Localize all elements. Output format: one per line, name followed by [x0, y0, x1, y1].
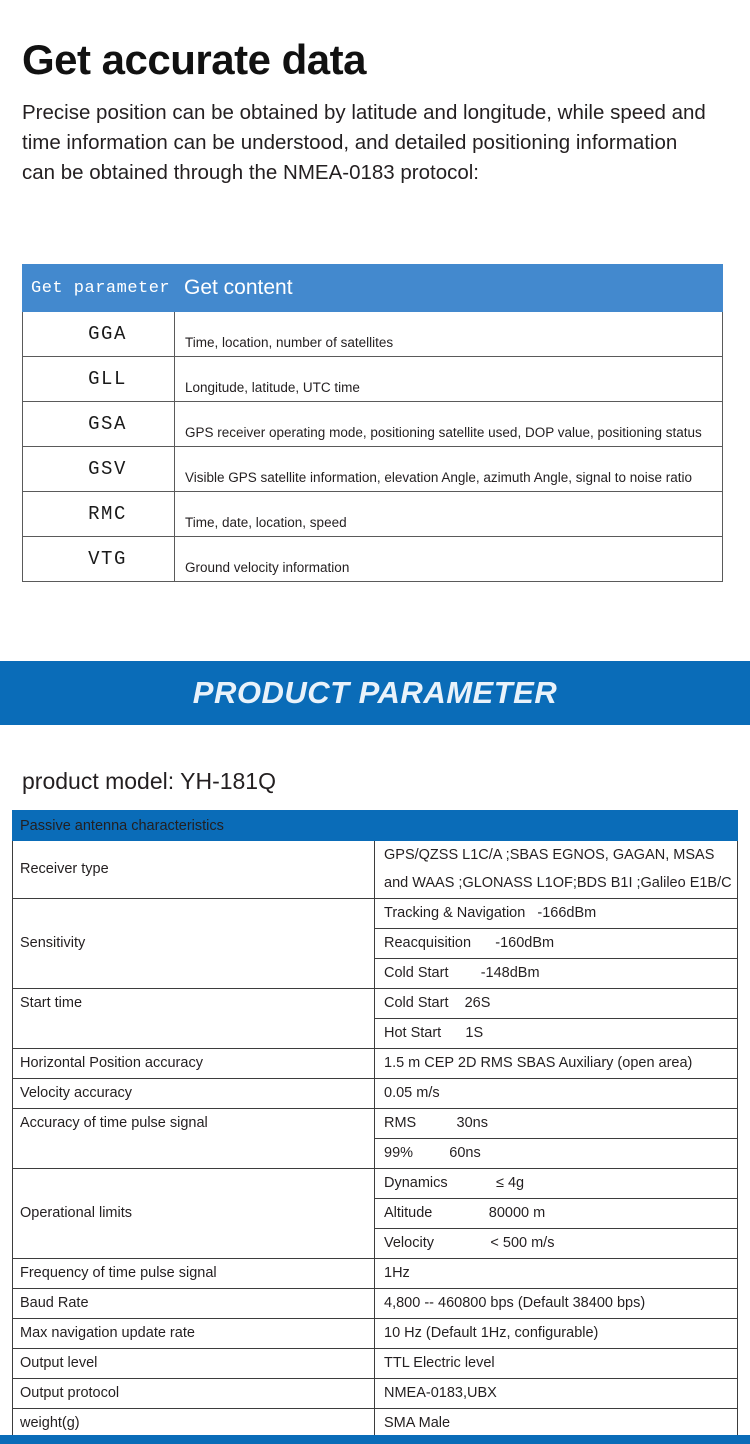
- table-row: GSV Visible GPS satellite information, e…: [23, 447, 723, 492]
- sensitivity-cold-start-name: Cold Start: [384, 965, 448, 981]
- operational-dynamics-value: ≤ 4g: [496, 1175, 524, 1191]
- operational-velocity-value: < 500 m/s: [490, 1235, 554, 1251]
- spec-value-output-protocol: NMEA-0183,UBX: [375, 1378, 738, 1408]
- nmea-sentence-table: Get parameter Get content GGA Time, loca…: [22, 264, 723, 582]
- operational-altitude-name: Altitude: [384, 1205, 432, 1221]
- time-pulse-99-value: 60ns: [449, 1145, 480, 1161]
- table-row: Max navigation update rate 10 Hz (Defaul…: [13, 1318, 738, 1348]
- spec-value-operational-dynamics: Dynamics ≤ 4g: [375, 1168, 738, 1198]
- nmea-content-gll: Longitude, latitude, UTC time: [175, 357, 723, 402]
- spec-table-body: Passive antenna characteristics Receiver…: [13, 811, 738, 1439]
- spec-label-time-pulse-accuracy: Accuracy of time pulse signal: [13, 1108, 375, 1168]
- sensitivity-reacquisition-value: -160dBm: [495, 935, 554, 951]
- spec-value-receiver-type: GPS/QZSS L1C/A ;SBAS EGNOS, GAGAN, MSAS …: [375, 841, 738, 899]
- banner-title: PRODUCT PARAMETER: [193, 675, 557, 711]
- nmea-content-rmc: Time, date, location, speed: [175, 492, 723, 537]
- spec-value-start-time-hot: Hot Start 1S: [375, 1018, 738, 1048]
- table-row: Output level TTL Electric level: [13, 1348, 738, 1378]
- intro-paragraph: Precise position can be obtained by lati…: [22, 98, 712, 187]
- table-row: Sensitivity Tracking & Navigation -166dB…: [13, 898, 738, 928]
- nmea-content-vtg: Ground velocity information: [175, 537, 723, 582]
- spec-label-receiver-type: Receiver type: [13, 841, 375, 899]
- table-row: Start time Cold Start 26S: [13, 988, 738, 1018]
- intro-section: Get accurate data Precise position can b…: [22, 38, 728, 187]
- spec-value-time-pulse-rms: RMS 30ns: [375, 1108, 738, 1138]
- nmea-parameter-gga: GGA: [23, 312, 175, 357]
- table-header-row: Get parameter Get content: [23, 265, 723, 312]
- table-row: weight(g) SMA Male: [13, 1408, 738, 1438]
- spec-label-nav-update-rate: Max navigation update rate: [13, 1318, 375, 1348]
- table-row: Velocity accuracy 0.05 m/s: [13, 1078, 738, 1108]
- spec-value-horizontal-accuracy: 1.5 m CEP 2D RMS SBAS Auxiliary (open ar…: [375, 1048, 738, 1078]
- table-row: GSA GPS receiver operating mode, positio…: [23, 402, 723, 447]
- spec-value-time-pulse-frequency: 1Hz: [375, 1258, 738, 1288]
- table-row: Baud Rate 4,800 -- 460800 bps (Default 3…: [13, 1288, 738, 1318]
- sensitivity-cold-start-value: -148dBm: [481, 965, 540, 981]
- spec-value-sensitivity-tracking: Tracking & Navigation -166dBm: [375, 898, 738, 928]
- nmea-content-gsv: Visible GPS satellite information, eleva…: [175, 447, 723, 492]
- table-row: Horizontal Position accuracy 1.5 m CEP 2…: [13, 1048, 738, 1078]
- product-spec-table: Passive antenna characteristics Receiver…: [12, 810, 738, 1439]
- spec-label-horizontal-accuracy: Horizontal Position accuracy: [13, 1048, 375, 1078]
- time-pulse-rms-value: 30ns: [457, 1115, 488, 1131]
- spec-value-operational-altitude: Altitude 80000 m: [375, 1198, 738, 1228]
- sensitivity-tracking-value: -166dBm: [537, 905, 596, 921]
- table-row: Operational limits Dynamics ≤ 4g: [13, 1168, 738, 1198]
- nmea-content-gsa: GPS receiver operating mode, positioning…: [175, 402, 723, 447]
- nmea-parameter-vtg: VTG: [23, 537, 175, 582]
- time-pulse-rms-name: RMS: [384, 1115, 416, 1131]
- start-time-cold-name: Cold Start: [384, 995, 448, 1011]
- spec-value-time-pulse-99: 99% 60ns: [375, 1138, 738, 1168]
- nmea-parameter-rmc: RMC: [23, 492, 175, 537]
- spec-value-operational-velocity: Velocity < 500 m/s: [375, 1228, 738, 1258]
- nmea-parameter-gsv: GSV: [23, 447, 175, 492]
- start-time-cold-value: 26S: [465, 995, 491, 1011]
- table-row: Frequency of time pulse signal 1Hz: [13, 1258, 738, 1288]
- spec-value-start-time-cold: Cold Start 26S: [375, 988, 738, 1018]
- product-model-line: product model: YH-181Q: [22, 768, 276, 795]
- table-row: GLL Longitude, latitude, UTC time: [23, 357, 723, 402]
- spec-label-weight: weight(g): [13, 1408, 375, 1438]
- nmea-table-body: GGA Time, location, number of satellites…: [23, 312, 723, 582]
- receiver-type-line-1: GPS/QZSS L1C/A ;SBAS EGNOS, GAGAN, MSAS: [384, 841, 737, 869]
- nmea-content-gga: Time, location, number of satellites: [175, 312, 723, 357]
- operational-altitude-value: 80000 m: [489, 1205, 545, 1221]
- page-title: Get accurate data: [22, 38, 728, 82]
- table-row: GGA Time, location, number of satellites: [23, 312, 723, 357]
- sensitivity-reacquisition-name: Reacquisition: [384, 935, 471, 951]
- spec-value-weight: SMA Male: [375, 1408, 738, 1438]
- spec-value-nav-update-rate: 10 Hz (Default 1Hz, configurable): [375, 1318, 738, 1348]
- receiver-type-line-2: and WAAS ;GLONASS L1OF;BDS B1I ;Galileo …: [384, 869, 737, 897]
- spec-label-velocity-accuracy: Velocity accuracy: [13, 1078, 375, 1108]
- operational-dynamics-name: Dynamics: [384, 1175, 448, 1191]
- column-header-get-parameter: Get parameter: [23, 265, 175, 312]
- column-header-get-content: Get content: [175, 265, 723, 312]
- table-row: Receiver type GPS/QZSS L1C/A ;SBAS EGNOS…: [13, 841, 738, 899]
- table-row: RMC Time, date, location, speed: [23, 492, 723, 537]
- spec-label-time-pulse-frequency: Frequency of time pulse signal: [13, 1258, 375, 1288]
- operational-velocity-name: Velocity: [384, 1235, 434, 1251]
- spec-label-sensitivity: Sensitivity: [13, 898, 375, 988]
- nmea-parameter-gll: GLL: [23, 357, 175, 402]
- spec-table-header-row: Passive antenna characteristics: [13, 811, 738, 841]
- sensitivity-tracking-name: Tracking & Navigation: [384, 905, 525, 921]
- spec-label-operational-limits: Operational limits: [13, 1168, 375, 1258]
- start-time-hot-name: Hot Start: [384, 1025, 441, 1041]
- spec-table-header: Passive antenna characteristics: [13, 811, 738, 841]
- product-parameter-banner: PRODUCT PARAMETER: [0, 661, 750, 725]
- spec-value-sensitivity-reacquisition: Reacquisition -160dBm: [375, 928, 738, 958]
- spec-value-velocity-accuracy: 0.05 m/s: [375, 1078, 738, 1108]
- spec-label-output-protocol: Output protocol: [13, 1378, 375, 1408]
- nmea-table-header: Get parameter Get content: [23, 265, 723, 312]
- start-time-hot-value: 1S: [465, 1025, 483, 1041]
- table-row: Output protocol NMEA-0183,UBX: [13, 1378, 738, 1408]
- spec-label-start-time: Start time: [13, 988, 375, 1048]
- time-pulse-99-name: 99%: [384, 1145, 413, 1161]
- spec-label-baud-rate: Baud Rate: [13, 1288, 375, 1318]
- table-row: VTG Ground velocity information: [23, 537, 723, 582]
- bottom-blue-strip: [0, 1435, 750, 1444]
- spec-label-output-level: Output level: [13, 1348, 375, 1378]
- spec-value-baud-rate: 4,800 -- 460800 bps (Default 38400 bps): [375, 1288, 738, 1318]
- spec-value-output-level: TTL Electric level: [375, 1348, 738, 1378]
- nmea-parameter-gsa: GSA: [23, 402, 175, 447]
- spec-value-sensitivity-cold-start: Cold Start -148dBm: [375, 958, 738, 988]
- table-row: Accuracy of time pulse signal RMS 30ns: [13, 1108, 738, 1138]
